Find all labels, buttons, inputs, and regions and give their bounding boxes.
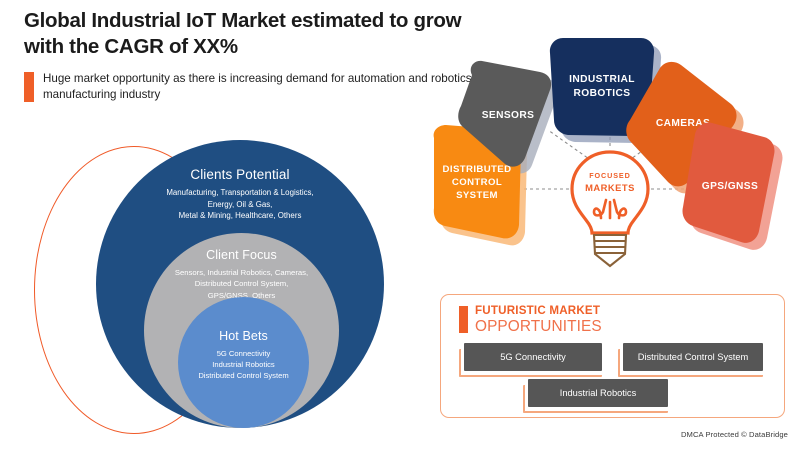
venn-body-hot-bets: 5G ConnectivityIndustrial RoboticsDistri… [178, 348, 309, 382]
futuristic-market-panel: FUTURISTIC MARKET OPPORTUNITIES 5G Conne… [440, 294, 785, 418]
panel-title-line1: FUTURISTIC MARKET [475, 305, 602, 317]
panel-title-line2: OPPORTUNITIES [475, 319, 602, 334]
venn-label-client-focus: Client Focus Sensors, Industrial Robotic… [144, 248, 339, 301]
accent-bar-icon [24, 72, 34, 102]
venn-body-clients-potential: Manufacturing, Transportation & Logistic… [96, 187, 384, 222]
chip-wrapper: Distributed Control System [618, 343, 763, 371]
petal-label-sensors: SENSORS [482, 110, 535, 121]
panel-accent-bar-icon [459, 306, 468, 333]
chip-rows: 5G Connectivity Distributed Control Syst… [441, 343, 784, 407]
petal-label-dcs-line3: SYSTEM [456, 190, 498, 201]
chip-industrial-robotics[interactable]: Industrial Robotics [528, 379, 668, 407]
petal-label-dcs-line1: DISTRIBUTED [443, 164, 512, 175]
petal-label-robotics-line1: INDUSTRIAL [569, 74, 635, 85]
chip-5g-connectivity[interactable]: 5G Connectivity [464, 343, 602, 371]
venn-title-clients-potential: Clients Potential [96, 167, 384, 182]
venn-title-client-focus: Client Focus [144, 248, 339, 262]
focused-markets-diagram: DISTRIBUTED CONTROL SYSTEM SENSORS INDUS… [420, 26, 800, 288]
futuristic-panel-header: FUTURISTIC MARKET OPPORTUNITIES [459, 305, 784, 334]
chip-row-2: Industrial Robotics [441, 379, 784, 407]
venn-label-clients-potential: Clients Potential Manufacturing, Transpo… [96, 167, 384, 222]
petal-label-dcs-line2: CONTROL [452, 177, 502, 188]
bulb-label-line1: FOCUSED [589, 171, 630, 180]
venn-title-hot-bets: Hot Bets [178, 329, 309, 343]
chip-wrapper: Industrial Robotics [523, 379, 668, 407]
bulb-label-line2: MARKETS [585, 182, 635, 193]
petal-label-robotics-line2: ROBOTICS [574, 88, 631, 99]
chip-row-1: 5G Connectivity Distributed Control Syst… [441, 343, 784, 371]
petal-label-gps-gnss: GPS/GNSS [702, 181, 758, 192]
chip-distributed-control-system[interactable]: Distributed Control System [623, 343, 763, 371]
footer-copyright: DMCA Protected © DataBridge [681, 430, 788, 439]
venn-diagram: Clients Potential Manufacturing, Transpo… [34, 140, 354, 440]
slide-canvas: Global Industrial IoT Market estimated t… [0, 0, 800, 450]
venn-label-hot-bets: Hot Bets 5G ConnectivityIndustrial Robot… [178, 329, 309, 382]
chip-wrapper: 5G Connectivity [459, 343, 602, 371]
venn-circle-hot-bets[interactable]: Hot Bets 5G ConnectivityIndustrial Robot… [178, 297, 309, 428]
panel-title-group: FUTURISTIC MARKET OPPORTUNITIES [475, 305, 602, 334]
light-bulb-icon: FOCUSED MARKETS [572, 152, 648, 266]
